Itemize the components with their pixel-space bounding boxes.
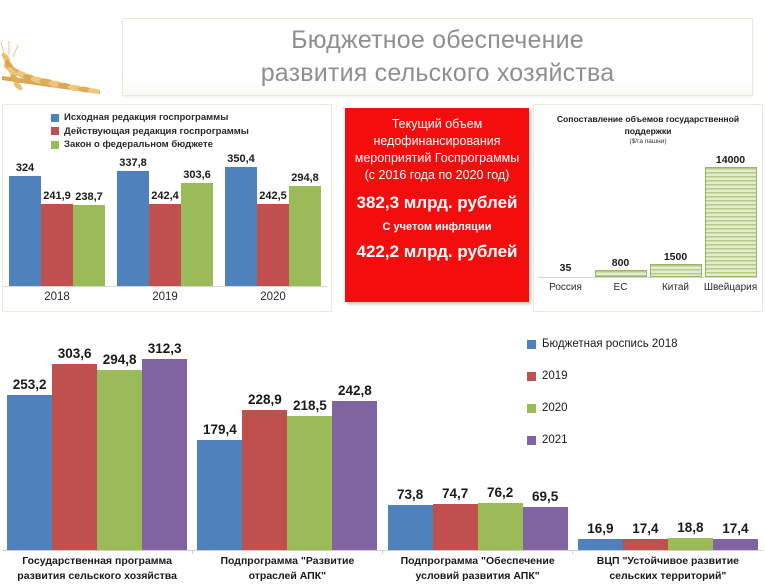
bar: 179,4 bbox=[197, 440, 242, 550]
bar: 241,9 bbox=[41, 204, 73, 286]
bar-value-label: 179,4 bbox=[203, 422, 237, 437]
bar-value-label: 35 bbox=[560, 262, 572, 274]
bar-group: 337,8 242,4 303,6 bbox=[111, 157, 219, 286]
category-label: Швейцария bbox=[703, 282, 758, 293]
category-label: Государственная программа развития сельс… bbox=[2, 554, 192, 584]
bar-value-label: 800 bbox=[612, 257, 630, 269]
category-label: 2018 bbox=[3, 291, 111, 311]
underfunding-description: Текущий объем недофинансирования меропри… bbox=[352, 116, 522, 184]
bar-value-label: 312,3 bbox=[148, 341, 182, 356]
bar-value-label: 242,8 bbox=[338, 383, 372, 398]
bar: 69,5 bbox=[523, 507, 568, 550]
underfunding-amount-inflation: 422,2 млрд. рублей bbox=[352, 242, 522, 262]
bar-value-label: 18,8 bbox=[677, 520, 703, 535]
bar-group: 1500 bbox=[648, 264, 703, 277]
bar-value-label: 253,2 bbox=[13, 377, 47, 392]
category-label: 2019 bbox=[111, 291, 219, 311]
bar-value-label: 16,9 bbox=[587, 521, 613, 536]
bar-group: 179,4 228,9 218,5 242,8 bbox=[192, 318, 382, 550]
bar-group: 800 bbox=[593, 270, 648, 277]
bar-value-label: 17,4 bbox=[722, 521, 748, 536]
bar-value-label: 17,4 bbox=[632, 521, 658, 536]
state-support-comparison-chart: Сопоставление объемов государственной по… bbox=[533, 104, 763, 312]
legend-label: Закон о федеральном бюджете bbox=[64, 138, 213, 152]
category-label: ЕС bbox=[593, 282, 648, 293]
bar-value-label: 324 bbox=[16, 162, 34, 174]
bar: 14000 bbox=[705, 167, 757, 277]
bar: 350,4 bbox=[225, 167, 257, 286]
bar-value-label: 218,5 bbox=[293, 398, 327, 413]
bar-group: 253,2 303,6 294,8 312,3 bbox=[2, 318, 192, 550]
chart-legend: Исходная редакция госпрограммы Действующ… bbox=[51, 111, 249, 152]
chart-axis-line bbox=[3, 286, 327, 287]
bar-value-label: 69,5 bbox=[532, 489, 558, 504]
chart-subtitle: ($/га пашни) bbox=[534, 138, 762, 145]
bar-value-label: 294,8 bbox=[103, 352, 137, 367]
budget-editions-chart: Исходная редакция госпрограммы Действующ… bbox=[2, 104, 332, 312]
legend-item: Действующая редакция госпрограммы bbox=[51, 125, 249, 139]
bar-group: 350,4 242,5 294,8 bbox=[219, 157, 327, 286]
title-line-2: развития сельского хозяйства bbox=[261, 57, 615, 90]
legend-item: Исходная редакция госпрограммы bbox=[51, 111, 249, 125]
bar-value-label: 242,5 bbox=[259, 190, 287, 202]
bar-value-label: 303,6 bbox=[58, 346, 92, 361]
legend-label: Исходная редакция госпрограммы bbox=[64, 111, 228, 125]
bar: 294,8 bbox=[289, 186, 321, 286]
title-line-1: Бюджетное обеспечение bbox=[291, 26, 584, 54]
bar-value-label: 14000 bbox=[716, 154, 745, 166]
legend-label: Действующая редакция госпрограммы bbox=[64, 125, 249, 139]
bar: 294,8 bbox=[97, 370, 142, 550]
bar: 242,5 bbox=[257, 204, 289, 286]
bar: 242,8 bbox=[332, 401, 377, 550]
category-label: 2020 bbox=[219, 291, 327, 311]
bar: 73,8 bbox=[388, 505, 433, 550]
bar: 17,4 bbox=[623, 539, 668, 550]
bar: 218,5 bbox=[287, 416, 332, 550]
underfunding-callout-panel: Текущий объем недофинансирования меропри… bbox=[345, 108, 529, 302]
bar-value-label: 74,7 bbox=[442, 486, 468, 501]
bar: 303,6 bbox=[181, 183, 213, 286]
bar: 253,2 bbox=[7, 395, 52, 550]
chart-category-labels: Государственная программа развития сельс… bbox=[2, 554, 763, 584]
legend-swatch-green bbox=[51, 141, 59, 149]
bar: 16,9 bbox=[578, 539, 623, 550]
underfunding-amount: 382,3 млрд. рублей bbox=[352, 193, 522, 213]
bar-value-label: 76,2 bbox=[487, 485, 513, 500]
page-title: Бюджетное обеспечение развития сельского… bbox=[261, 24, 615, 90]
program-funding-chart: Бюджетная роспись 2018 2019 2020 2021 25… bbox=[0, 318, 765, 588]
bar: 228,9 bbox=[242, 410, 287, 550]
wheat-ears-icon bbox=[0, 28, 120, 100]
chart-plot-area: 253,2 303,6 294,8 312,3 179,4 bbox=[2, 318, 763, 550]
bar-value-label: 350,4 bbox=[227, 153, 255, 165]
bar-group: 73,8 74,7 76,2 69,5 bbox=[383, 318, 573, 550]
bar: 238,7 bbox=[73, 205, 105, 286]
bar-group: 16,9 17,4 18,8 17,4 bbox=[573, 318, 763, 550]
bar-group: 14000 bbox=[703, 167, 758, 277]
bar: 303,6 bbox=[52, 364, 97, 550]
bar: 74,7 bbox=[433, 504, 478, 550]
category-label: Россия bbox=[538, 282, 593, 293]
bar-value-label: 242,4 bbox=[151, 190, 179, 202]
chart-axis-line bbox=[538, 277, 758, 278]
chart-title: Сопоставление объемов государственной по… bbox=[542, 113, 754, 137]
bar-group: 324 241,9 238,7 bbox=[3, 157, 111, 286]
bar: 17,4 bbox=[713, 539, 758, 550]
category-label: Китай bbox=[648, 282, 703, 293]
bar-value-label: 1500 bbox=[664, 251, 687, 263]
bar: 18,8 bbox=[668, 538, 713, 550]
bar-value-label: 238,7 bbox=[75, 191, 103, 203]
bar-value-label: 73,8 bbox=[397, 487, 423, 502]
legend-swatch-blue bbox=[51, 114, 59, 122]
bar: 324 bbox=[9, 176, 41, 286]
slide-canvas: Бюджетное обеспечение развития сельского… bbox=[0, 0, 765, 588]
bar-value-label: 303,6 bbox=[183, 169, 211, 181]
bar: 312,3 bbox=[142, 359, 187, 550]
chart-plot-area: 324 241,9 238,7 337,8 242,4 bbox=[3, 157, 327, 286]
chart-category-labels: Россия ЕС Китай Швейцария bbox=[538, 282, 758, 293]
legend-swatch-red bbox=[51, 127, 59, 135]
bar-value-label: 294,8 bbox=[291, 172, 319, 184]
bar: 76,2 bbox=[478, 503, 523, 550]
chart-plot-area: 35 800 1500 14000 bbox=[538, 153, 758, 277]
bar: 337,8 bbox=[117, 171, 149, 286]
bar-value-label: 228,9 bbox=[248, 392, 282, 407]
bar: 242,4 bbox=[149, 204, 181, 286]
chart-category-labels: 2018 2019 2020 bbox=[3, 291, 327, 311]
bar-value-label: 337,8 bbox=[119, 157, 147, 169]
inflation-label: С учетом инфляции bbox=[352, 221, 522, 233]
bar: 1500 bbox=[650, 264, 702, 277]
bar: 800 bbox=[595, 270, 647, 277]
legend-item: Закон о федеральном бюджете bbox=[51, 138, 249, 152]
slide-title-box: Бюджетное обеспечение развития сельского… bbox=[122, 18, 753, 96]
category-label: ВЦП "Устойчивое развитие сельских террит… bbox=[573, 554, 763, 584]
category-label: Подпрограмма "Обеспечение условий развит… bbox=[383, 554, 573, 584]
category-label: Подпрограмма "Развитие отраслей АПК" bbox=[192, 554, 382, 584]
bar-value-label: 241,9 bbox=[43, 190, 71, 202]
